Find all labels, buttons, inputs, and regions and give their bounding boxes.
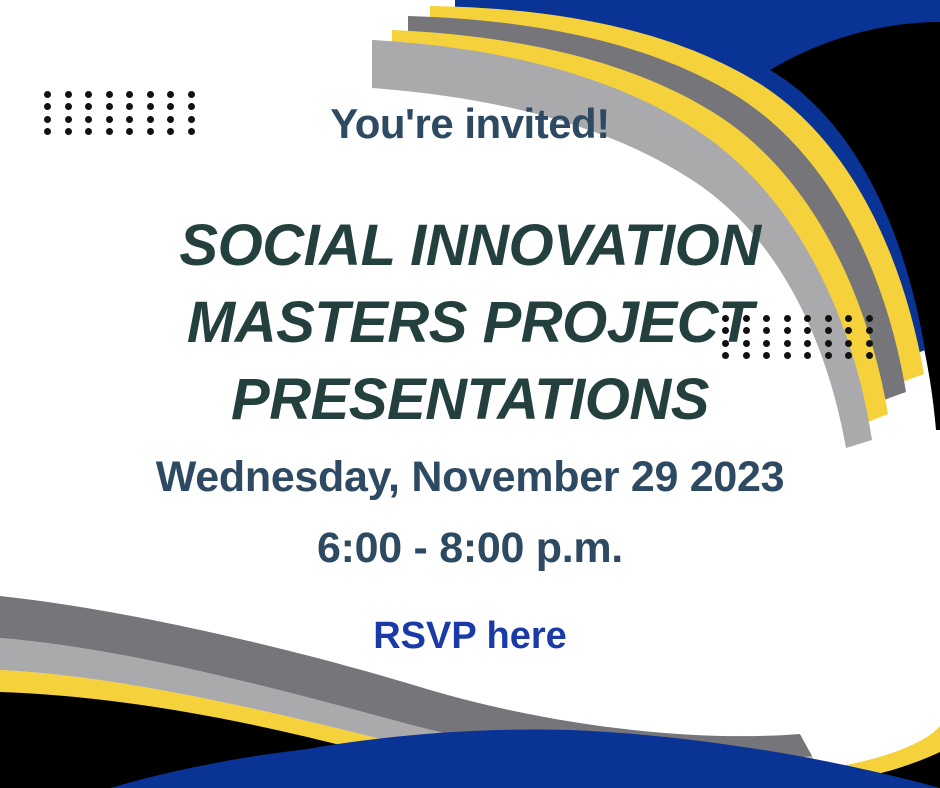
- event-date: Wednesday, November 29 2023: [0, 442, 940, 513]
- event-title-line-2: MASTERS PROJECT: [0, 284, 940, 361]
- invitation-kicker: You're invited!: [0, 103, 940, 145]
- event-title: SOCIAL INNOVATION MASTERS PROJECT PRESEN…: [0, 207, 940, 438]
- event-title-line-3: PRESENTATIONS: [0, 361, 940, 438]
- event-datetime: Wednesday, November 29 2023 6:00 - 8:00 …: [0, 442, 940, 584]
- rsvp-link[interactable]: RSVP here: [0, 617, 940, 655]
- invitation-card: You're invited! SOCIAL INNOVATION MASTER…: [0, 0, 940, 788]
- invitation-content: You're invited! SOCIAL INNOVATION MASTER…: [0, 0, 940, 788]
- event-time: 6:00 - 8:00 p.m.: [0, 513, 940, 584]
- event-title-line-1: SOCIAL INNOVATION: [0, 207, 940, 284]
- rsvp-link-label[interactable]: RSVP here: [373, 617, 567, 655]
